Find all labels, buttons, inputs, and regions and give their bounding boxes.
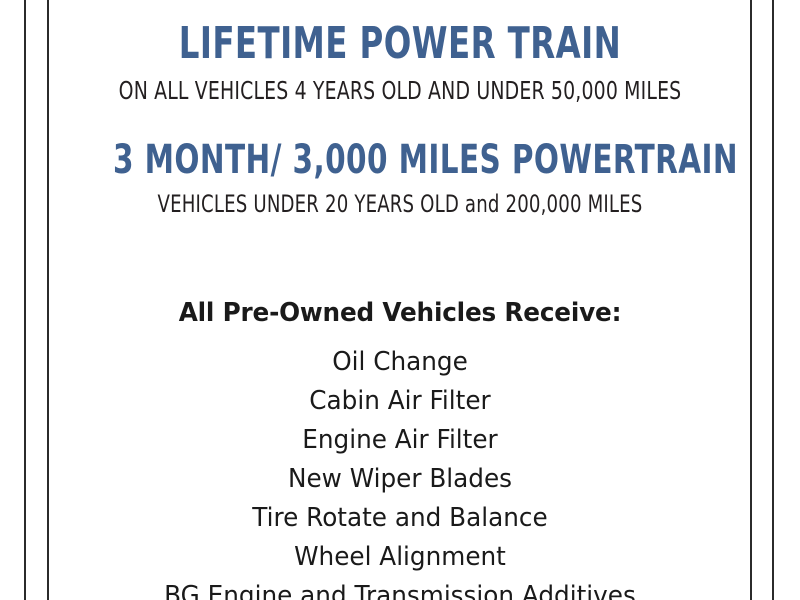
services-section: All Pre-Owned Vehicles Receive: Oil Chan… [50,300,750,600]
left-outer-rule [24,0,26,600]
warranty-headline-three-month: 3 MONTH/ 3,000 MILES POWERTRAIN [113,140,687,180]
list-item: Engine Air Filter [68,421,733,460]
warranty-subline-lifetime: ON ALL VEHICLES 4 YEARS OLD AND UNDER 50… [106,78,694,103]
list-item: Oil Change [68,343,733,382]
right-inner-rule [750,0,752,600]
list-item: Tire Rotate and Balance [68,499,733,538]
list-item: New Wiper Blades [68,460,733,499]
list-item: Cabin Air Filter [68,382,733,421]
services-title: All Pre-Owned Vehicles Receive: [68,300,733,326]
list-item: BG Engine and Transmission Additives [68,577,733,600]
flyer-canvas: LIFETIME POWER TRAIN ON ALL VEHICLES 4 Y… [0,0,800,600]
list-item: Wheel Alignment [68,538,733,577]
left-inner-rule [47,0,49,600]
services-list: Oil Change Cabin Air Filter Engine Air F… [50,343,750,600]
warranty-block-lifetime-powertrain: LIFETIME POWER TRAIN ON ALL VEHICLES 4 Y… [50,22,750,103]
right-outer-rule [772,0,774,600]
warranty-block-three-month: 3 MONTH/ 3,000 MILES POWERTRAIN VEHICLES… [50,140,750,216]
warranty-headline-lifetime: LIFETIME POWER TRAIN [113,22,687,66]
flyer-content: LIFETIME POWER TRAIN ON ALL VEHICLES 4 Y… [50,0,750,600]
warranty-subline-three-month: VEHICLES UNDER 20 YEARS OLD and 200,000 … [106,192,694,216]
